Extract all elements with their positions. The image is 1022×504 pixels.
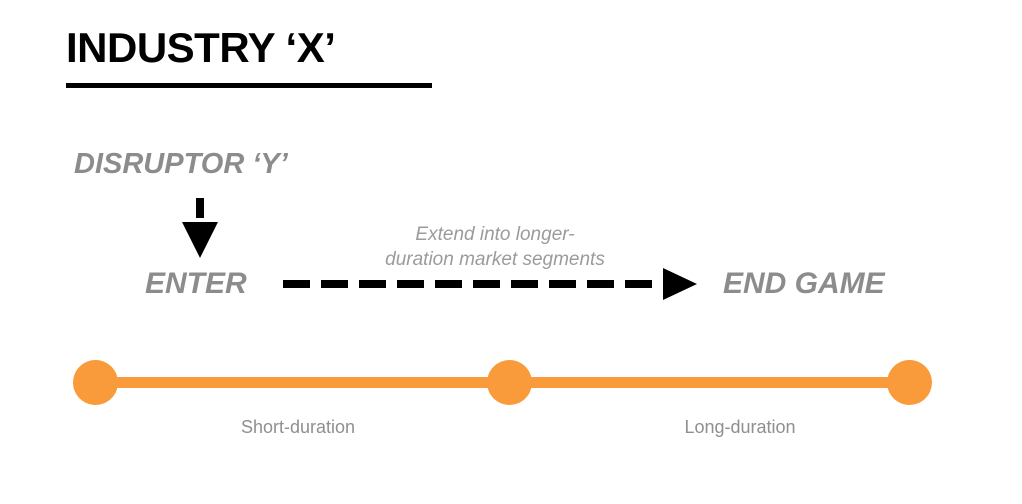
down-arrow-stem [196, 198, 204, 218]
dashed-arrow-line [283, 280, 665, 288]
enter-label: ENTER [145, 267, 247, 301]
timeline-node-end [887, 360, 932, 405]
down-arrow-head [182, 222, 218, 258]
page-title-block: INDUSTRY ‘X’ [66, 26, 335, 70]
arrow-caption-line-1: Extend into longer- [370, 222, 620, 247]
page-title: INDUSTRY ‘X’ [66, 26, 335, 70]
timeline-node-middle [487, 360, 532, 405]
timeline-segment-long [510, 377, 910, 388]
dashed-arrow-head [663, 268, 697, 300]
dashed-right-arrow-icon [283, 262, 699, 306]
duration-timeline: Short-duration Long-duration [0, 355, 1022, 415]
title-underline [66, 83, 432, 88]
timeline-label-long-duration: Long-duration [640, 417, 840, 438]
timeline-label-short-duration: Short-duration [198, 417, 398, 438]
timeline-node-start [73, 360, 118, 405]
down-arrow-icon [178, 198, 222, 260]
disruptor-label: DISRUPTOR ‘Y’ [74, 148, 288, 181]
end-game-label: END GAME [723, 267, 885, 301]
timeline-segment-short [96, 377, 510, 388]
diagram-canvas: INDUSTRY ‘X’ DISRUPTOR ‘Y’ ENTER Extend … [0, 0, 1022, 504]
